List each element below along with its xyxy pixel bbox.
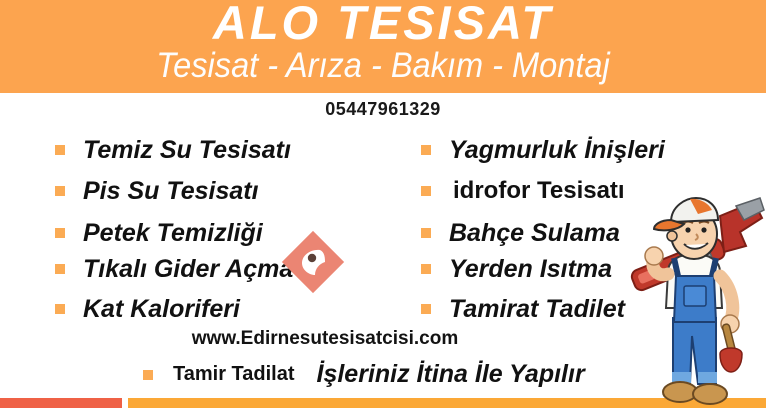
service-label: Tıkalı Gider Açma	[83, 255, 293, 283]
bullet-square-icon	[421, 145, 431, 155]
bottom-bar-left-accent	[0, 398, 122, 408]
service-label-tamir-tadilat: Tamir Tadilat	[173, 363, 295, 386]
service-label: Petek Temizliği	[83, 219, 263, 247]
service-label: Yerden Isıtma	[449, 255, 612, 283]
service-item-left-3: Petek Temizliği	[55, 219, 263, 247]
footer-row: Tamir Tadilat İşleriniz İtina İle Yapılı…	[143, 360, 585, 389]
service-item-right-5: Tamirat Tadilet	[421, 295, 625, 323]
business-card: ALO TESISAT Tesisat - Arıza - Bakım - Mo…	[0, 0, 766, 408]
service-item-left-1: Temiz Su Tesisatı	[55, 136, 291, 164]
bullet-square-icon	[55, 145, 65, 155]
legs	[672, 318, 717, 384]
service-label: Bahçe Sulama	[449, 219, 620, 247]
phone-number[interactable]: 05447961329	[0, 99, 766, 120]
bullet-square-icon	[421, 228, 431, 238]
service-label: Pis Su Tesisatı	[83, 177, 259, 205]
slogan-text: İşleriniz İtina İle Yapılır	[317, 360, 585, 389]
service-item-right-1: Yagmurluk İnişleri	[421, 136, 665, 164]
eye-right	[701, 227, 706, 232]
bullet-square-icon	[421, 264, 431, 274]
service-label: Yagmurluk İnişleri	[449, 136, 665, 164]
service-label: Temiz Su Tesisatı	[83, 136, 291, 164]
shoes	[663, 382, 727, 404]
service-item-right-3: Bahçe Sulama	[421, 219, 620, 247]
page-title: ALO TESISAT	[0, 0, 766, 49]
service-item-left-5: Kat Kaloriferi	[55, 295, 240, 323]
service-label: Tamirat Tadilet	[449, 295, 625, 323]
bullet-square-icon	[143, 370, 153, 380]
service-item-left-2: Pis Su Tesisatı	[55, 177, 259, 205]
plunger-icon	[720, 324, 742, 372]
eye-left	[685, 227, 690, 232]
header-subtitle: Tesisat - Arıza - Bakım - Montaj	[27, 45, 739, 87]
service-label: Kat Kaloriferi	[83, 295, 240, 323]
location-pin-icon	[295, 247, 331, 279]
service-item-left-4: Tıkalı Gider Açma	[55, 255, 293, 283]
website-url[interactable]: www.Edirnesutesisatcisi.com	[0, 328, 708, 350]
bullet-square-icon	[55, 264, 65, 274]
header-banner: ALO TESISAT Tesisat - Arıza - Bakım - Mo…	[0, 0, 766, 93]
bullet-square-icon	[421, 304, 431, 314]
bullet-square-icon	[55, 304, 65, 314]
service-item-right-4: Yerden Isıtma	[421, 255, 612, 283]
service-label: idrofor Tesisatı	[453, 177, 625, 205]
left-hand	[645, 247, 663, 265]
bullet-square-icon	[421, 186, 431, 196]
bullet-square-icon	[55, 228, 65, 238]
cartoon-plumber-illustration	[628, 196, 766, 408]
service-item-right-2: idrofor Tesisatı	[421, 177, 625, 205]
bullet-square-icon	[55, 186, 65, 196]
